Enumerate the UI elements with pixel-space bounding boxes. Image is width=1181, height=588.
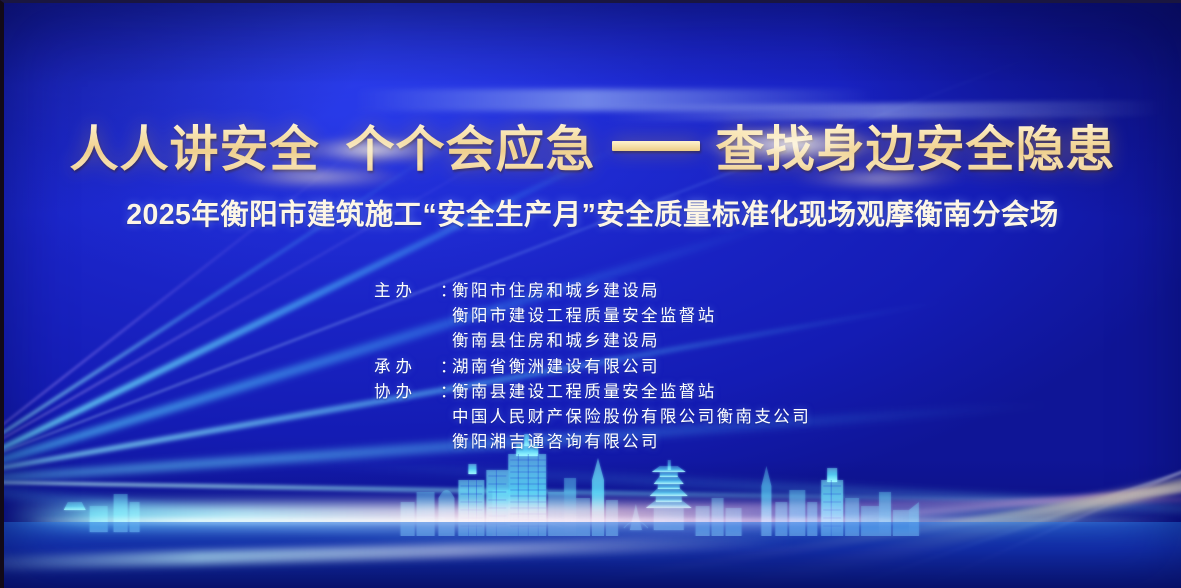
headline-light-streak-1 xyxy=(354,89,874,111)
organizer-value: 衡阳市建设工程质量安全监督站 xyxy=(452,304,717,329)
organizer-row: 主办 ： 衡阳市住房和城乡建设局 xyxy=(374,279,811,304)
organizer-row: 承办 ： 湖南省衡洲建设有限公司 xyxy=(374,355,811,380)
organizer-colon: ： xyxy=(440,380,452,405)
main-headline: 人人讲安全个个会应急查找身边安全隐患 xyxy=(4,121,1181,179)
headline-phrase-2: 个个会应急 xyxy=(345,123,595,177)
headline-dash-icon xyxy=(612,141,700,151)
organizer-row: 协办 ： 衡南县建设工程质量安全监督站 xyxy=(374,380,811,405)
organizer-colon: ： xyxy=(440,355,452,380)
organizer-value: 衡阳市住房和城乡建设局 xyxy=(452,279,660,304)
event-banner: 人人讲安全个个会应急查找身边安全隐患 2025年衡阳市建筑施工“安全生产月”安全… xyxy=(0,0,1181,588)
organizer-label: 协办 xyxy=(374,380,440,405)
banner-content: 人人讲安全个个会应急查找身边安全隐患 2025年衡阳市建筑施工“安全生产月”安全… xyxy=(4,3,1181,588)
headline-phrase-1: 人人讲安全 xyxy=(69,123,319,177)
organizer-label: 承办 xyxy=(374,355,440,380)
organizer-row: 协办 ： 中国人民财产保险股份有限公司衡南支公司 xyxy=(374,405,811,430)
organizer-row: 主办 ： 衡南县住房和城乡建设局 xyxy=(374,329,811,354)
organizer-row: 主办 ： 衡阳市建设工程质量安全监督站 xyxy=(374,304,811,329)
organizer-value: 湖南省衡洲建设有限公司 xyxy=(452,355,660,380)
organizer-row: 协办 ： 衡阳湘吉通咨询有限公司 xyxy=(374,430,811,455)
subtitle: 2025年衡阳市建筑施工“安全生产月”安全质量标准化现场观摩衡南分会场 xyxy=(4,196,1181,234)
organizer-value: 中国人民财产保险股份有限公司衡南支公司 xyxy=(452,405,811,430)
organizer-colon: ： xyxy=(440,279,452,304)
organizer-value: 衡阳湘吉通咨询有限公司 xyxy=(452,430,660,455)
headline-light-streak-2 xyxy=(604,100,1164,122)
organizer-value: 衡南县建设工程质量安全监督站 xyxy=(452,380,717,405)
organizer-list: 主办 ： 衡阳市住房和城乡建设局 主办 ： 衡阳市建设工程质量安全监督站 主办 … xyxy=(374,279,811,455)
headline-phrase-3: 查找身边安全隐患 xyxy=(716,123,1116,177)
organizer-label: 主办 xyxy=(374,279,440,304)
organizer-value: 衡南县住房和城乡建设局 xyxy=(452,329,660,354)
